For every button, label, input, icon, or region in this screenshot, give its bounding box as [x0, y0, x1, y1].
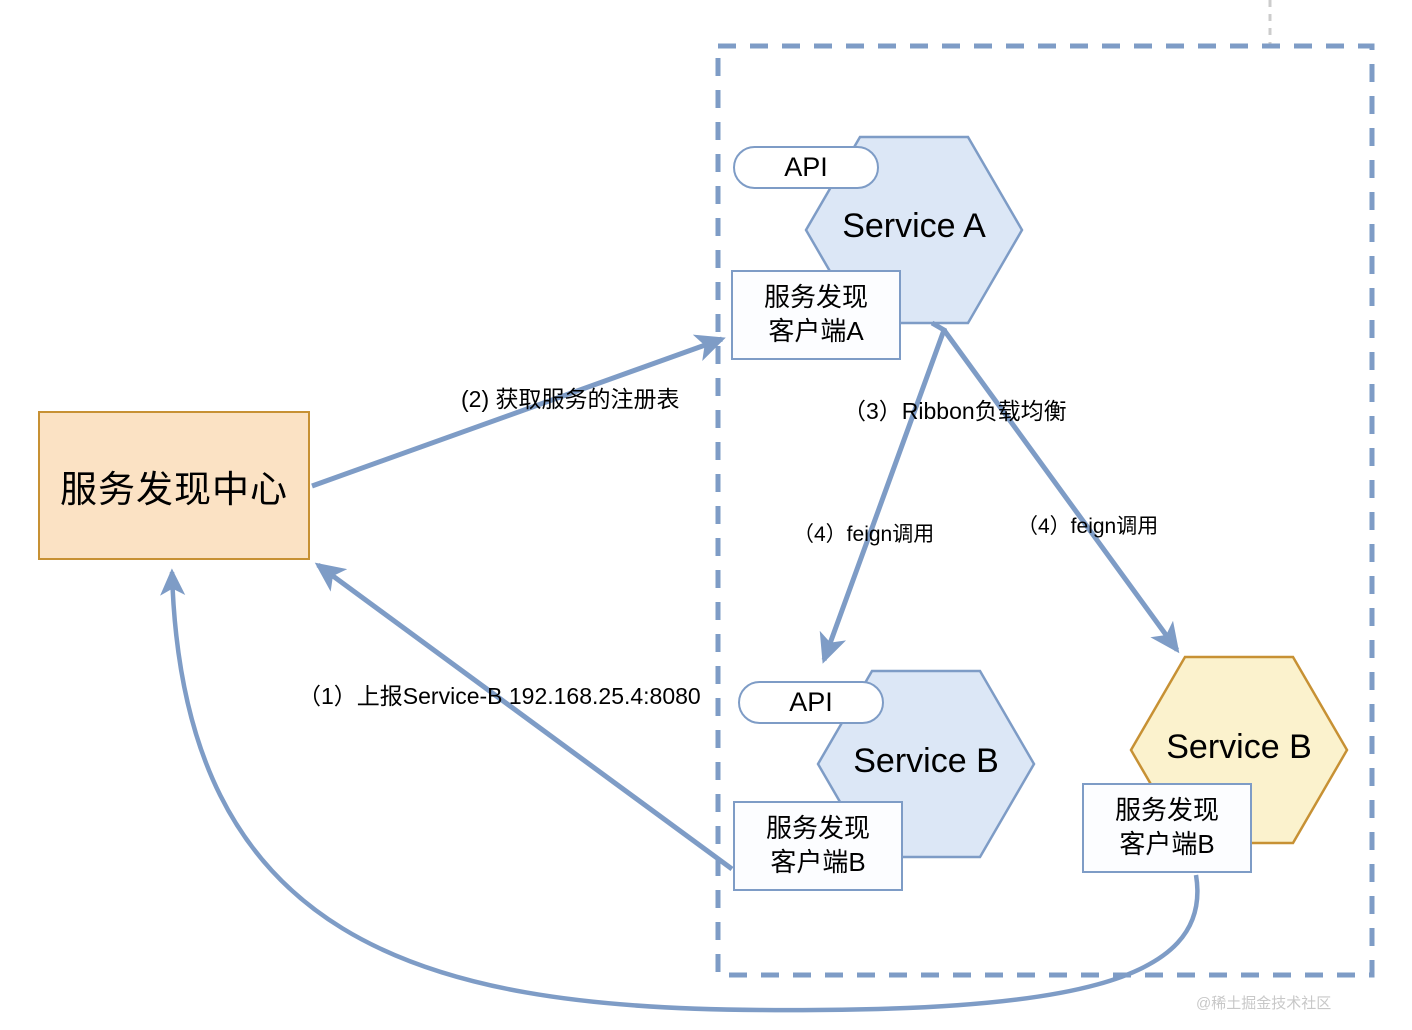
service-b-right-client-line1: 服务发现: [1115, 794, 1219, 828]
service-a-hexagon-label: Service A: [818, 207, 1010, 246]
service-b-right-hexagon-label: Service B: [1141, 728, 1337, 767]
edge-label-2: (2) 获取服务的注册表: [461, 380, 680, 414]
service-b-left-api-label: API: [789, 687, 833, 718]
service-a-client-line1: 服务发现: [764, 281, 868, 315]
service-a-discovery-client-box[interactable]: 服务发现 客户端A: [731, 270, 901, 360]
edge-label-1: （1）上报Service-B 192.168.25.4:8080: [298, 677, 701, 711]
edge-4b-feign-call-right: [944, 330, 1177, 650]
service-b-right-discovery-client-box[interactable]: 服务发现 客户端B: [1082, 783, 1252, 873]
service-a-client-line2: 客户端A: [768, 315, 863, 349]
edge-1-report-instance: [318, 565, 732, 869]
service-b-left-client-line2: 客户端B: [770, 846, 865, 880]
service-b-left-client-line1: 服务发现: [766, 812, 870, 846]
discovery-center-node[interactable]: 服务发现中心: [38, 411, 310, 560]
discovery-center-label: 服务发现中心: [60, 459, 288, 513]
diagram-canvas: 服务发现中心 API Service A 服务发现 客户端A API Servi…: [0, 0, 1412, 1030]
service-b-left-discovery-client-box[interactable]: 服务发现 客户端B: [733, 801, 903, 891]
service-a-api-pill[interactable]: API: [733, 146, 879, 189]
service-b-left-hexagon-label: Service B: [828, 742, 1024, 781]
edge-label-4b: （4）feign调用: [1017, 510, 1158, 540]
watermark: @稀土掘金技术社区: [1196, 992, 1331, 1013]
edge-5-report-curve: [172, 572, 1197, 1010]
edge-label-4a: （4）feign调用: [793, 518, 934, 548]
service-a-api-label: API: [784, 152, 828, 183]
edge-4a-feign-call-left: [824, 323, 944, 660]
service-b-left-api-pill[interactable]: API: [738, 681, 884, 724]
edge-label-3: （3）Ribbon负载均衡: [843, 392, 1067, 426]
service-b-right-client-line2: 客户端B: [1119, 828, 1214, 862]
